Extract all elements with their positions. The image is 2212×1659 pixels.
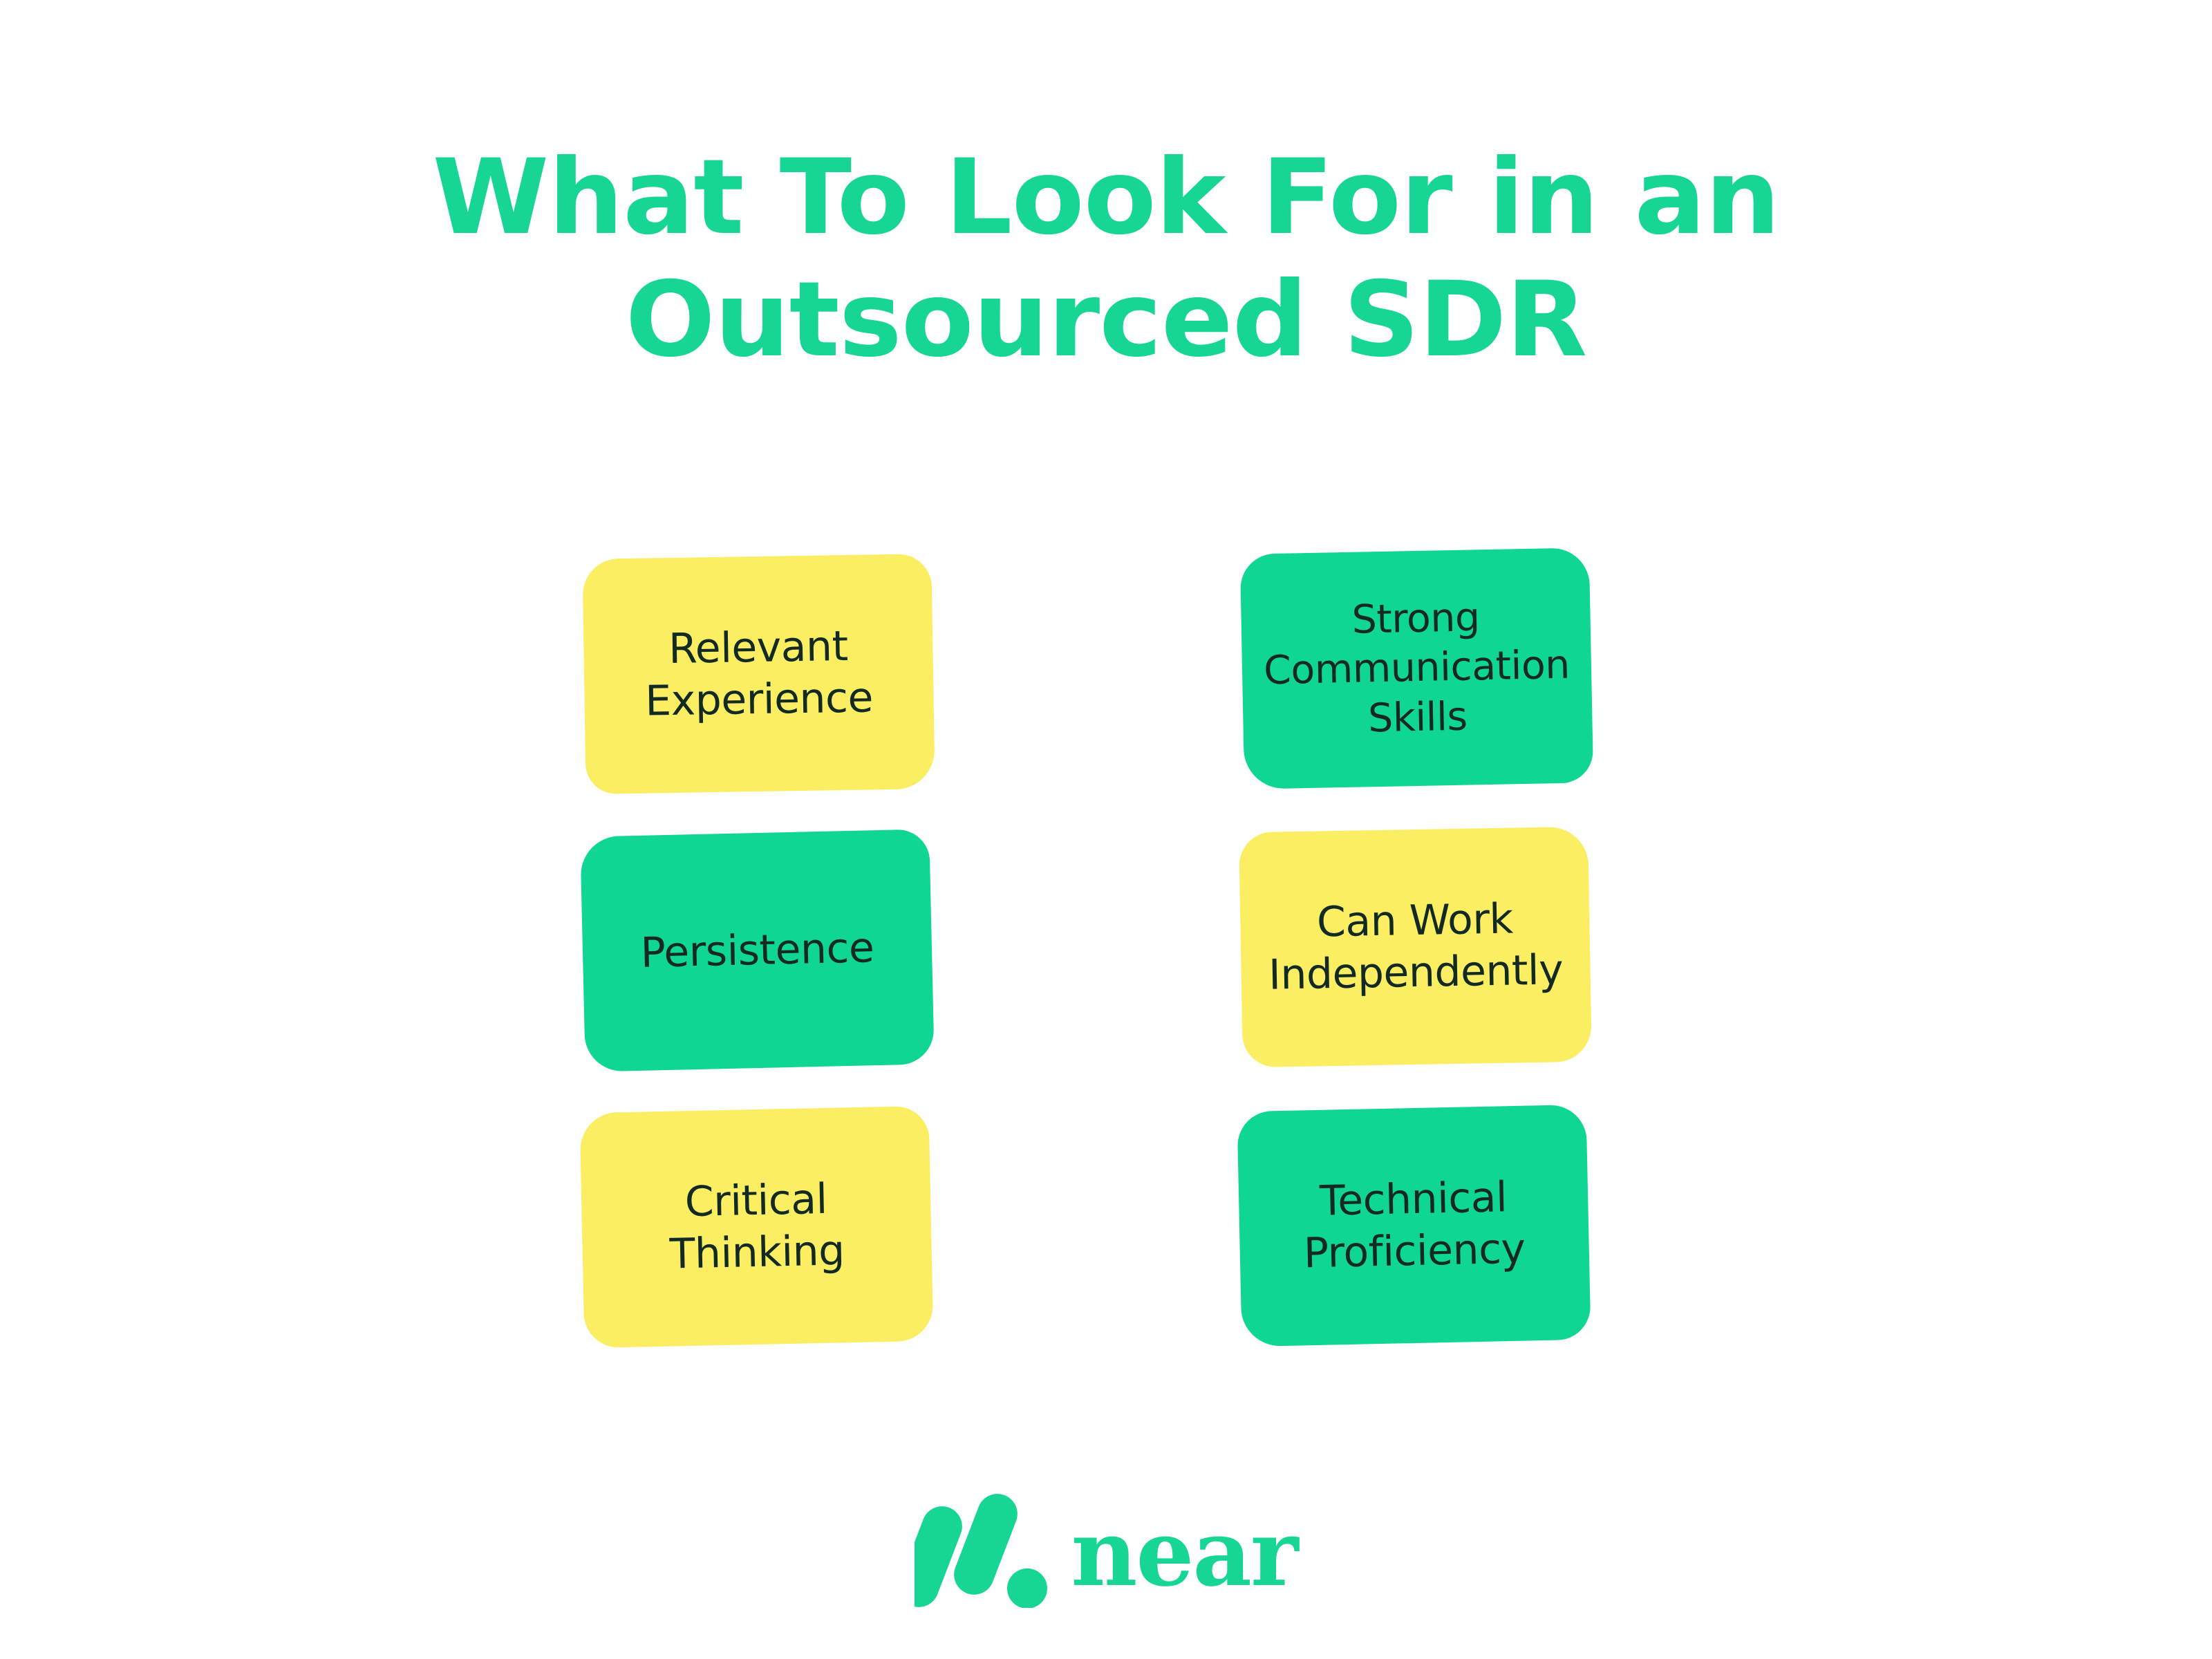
trait-card-label-line-1: Critical [684,1175,827,1226]
trait-card-label-line-1: Persistence [640,924,874,977]
trait-card-label-line-2: Thinking [669,1226,845,1278]
page-title-line-2: Outsourced SDR [0,259,2212,382]
trait-card-label: Critical Thinking [583,1172,929,1282]
page-title: What To Look For in an Outsourced SDR [0,137,2212,382]
trait-card-relevant-experience: Relevant Experience [582,554,935,794]
trait-card-label-line-1: Relevant [668,622,848,673]
traits-card-grid: Relevant Experience Strong Communication… [584,556,1593,1351]
trait-card-persistence: Persistence [580,829,935,1071]
trait-card-strong-communication-skills: Strong Communication Skills [1240,547,1593,789]
trait-card-label-line-1: Can Work [1316,895,1513,947]
trait-card-label-line-2: Experience [645,673,874,725]
near-wordmark: near [1071,1508,1297,1600]
trait-card-label-line-3: Skills [1368,693,1468,741]
trait-card-label-line-2: Communication [1264,642,1571,693]
trait-card-label-line-1: Technical [1319,1173,1507,1226]
trait-card-label: Can Work Independently [1243,892,1588,1002]
page-title-line-1: What To Look For in an [0,137,2212,259]
trait-card-label: Persistence [585,921,930,980]
trait-card-label: Relevant Experience [586,619,931,729]
trait-card-label-line-2: Independently [1268,946,1564,999]
trait-card-label-line-1: Strong [1351,594,1480,643]
infographic-page: What To Look For in an Outsourced SDR Re… [0,0,2212,1659]
trait-card-label: Technical Proficiency [1241,1170,1586,1281]
trait-card-technical-proficiency: Technical Proficiency [1237,1105,1591,1347]
trait-card-can-work-independently: Can Work Independently [1239,827,1592,1068]
trait-card-critical-thinking: Critical Thinking [579,1106,933,1349]
brand-logo: near [0,1492,2212,1608]
trait-card-label: Strong Communication Skills [1244,591,1590,745]
near-logo-mark-icon [915,1492,1047,1608]
trait-card-label-line-2: Proficiency [1303,1225,1526,1278]
